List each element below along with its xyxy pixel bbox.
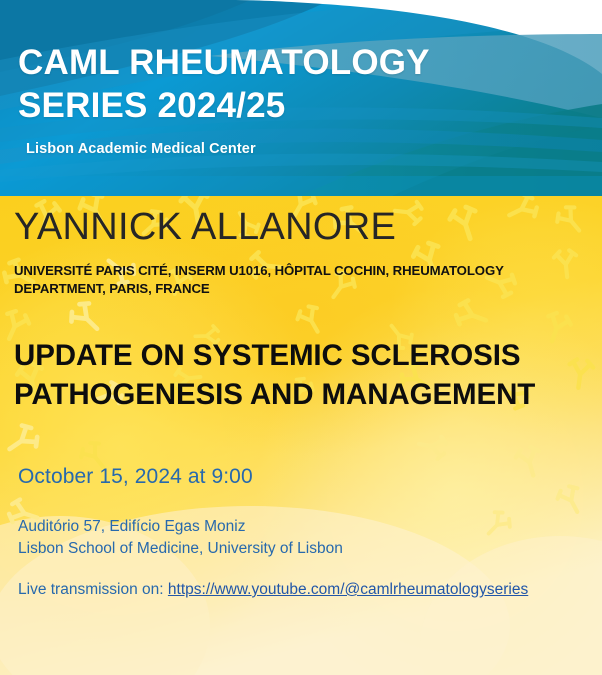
event-date: October 15, 2024 at 9:00 — [18, 465, 253, 489]
series-title: CAML RHEUMATOLOGY SERIES 2024/25 — [18, 42, 578, 127]
series-subtitle: Lisbon Academic Medical Center — [26, 141, 578, 157]
header-text-block: CAML RHEUMATOLOGY SERIES 2024/25 Lisbon … — [18, 42, 578, 157]
event-venue: Auditório 57, Edifício Egas Moniz Lisbon… — [18, 516, 588, 561]
poster-header: CAML RHEUMATOLOGY SERIES 2024/25 Lisbon … — [0, 0, 602, 196]
youtube-link[interactable]: https://www.youtube.com/@camlrheumatolog… — [168, 581, 528, 598]
poster-body: YANNICK ALLANORE UNIVERSITÉ PARIS CITÉ, … — [0, 196, 602, 675]
live-transmission-line: Live transmission on: https://www.youtub… — [18, 581, 598, 599]
speaker-name: YANNICK ALLANORE — [14, 208, 396, 246]
body-content: YANNICK ALLANORE UNIVERSITÉ PARIS CITÉ, … — [0, 196, 602, 675]
talk-title: UPDATE ON SYSTEMIC SCLEROSIS PATHOGENESI… — [14, 336, 594, 414]
event-poster: CAML RHEUMATOLOGY SERIES 2024/25 Lisbon … — [0, 0, 602, 675]
transmission-label: Live transmission on: — [18, 581, 168, 598]
speaker-affiliation: UNIVERSITÉ PARIS CITÉ, INSERM U1016, HÔP… — [14, 262, 592, 297]
